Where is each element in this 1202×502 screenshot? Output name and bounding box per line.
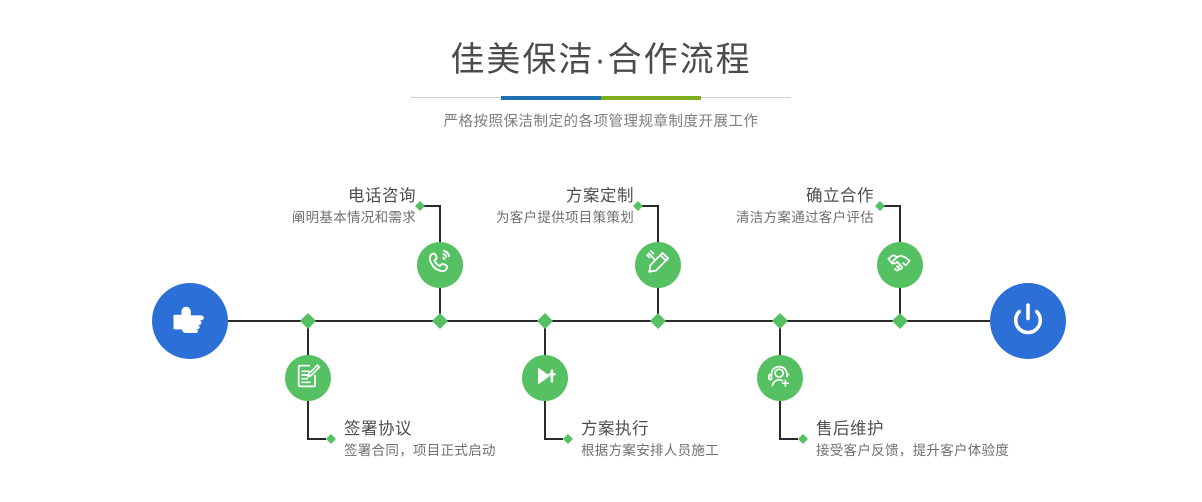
label-diamond-step-2 (326, 434, 336, 444)
pencil-ruler-icon (644, 249, 672, 282)
document-edit-icon (294, 362, 322, 395)
label-desc-step-2: 签署合同，项目正式启动 (344, 441, 496, 461)
diamond-marker-step-4 (537, 313, 553, 329)
label-diamond-step-3 (633, 201, 643, 211)
label-title-step-4: 方案执行 (581, 418, 719, 440)
node-icon-step-3[interactable] (635, 242, 681, 288)
diamond-marker-step-1 (432, 313, 448, 329)
label-step-3: 方案定制 为客户提供项目策策划 (496, 185, 634, 228)
label-title-step-3: 方案定制 (496, 185, 634, 207)
flowchart-page: 佳美保洁·合作流程 严格按照保洁制定的各项管理规章制度开展工作 (0, 0, 1202, 502)
label-title-step-2: 签署协议 (344, 418, 496, 440)
label-diamond-markers (326, 201, 885, 444)
play-execute-icon (531, 362, 559, 395)
label-desc-step-3: 为客户提供项目策策划 (496, 208, 634, 228)
node-icon-step-1[interactable] (417, 242, 463, 288)
label-title-step-1: 电话咨询 (292, 185, 416, 207)
phone-call-icon (426, 249, 454, 282)
label-desc-step-6: 接受客户反馈，提升客户体验度 (816, 441, 1009, 461)
label-desc-step-5: 清洁方案通过客户评估 (736, 208, 874, 228)
diamond-marker-step-3 (650, 313, 666, 329)
label-diamond-step-4 (563, 434, 573, 444)
node-icon-step-4[interactable] (522, 355, 568, 401)
power-icon (1006, 297, 1050, 346)
node-icon-step-6[interactable] (757, 355, 803, 401)
pointing-hand-icon (168, 297, 212, 346)
label-desc-step-4: 根据方案安排人员施工 (581, 441, 719, 461)
label-diamond-step-6 (798, 434, 808, 444)
diamond-marker-step-2 (300, 313, 316, 329)
label-step-4: 方案执行 根据方案安排人员施工 (581, 418, 719, 461)
label-step-1: 电话咨询 阐明基本情况和需求 (292, 185, 416, 228)
process-flow-diagram: 电话咨询 阐明基本情况和需求 方案定制 为客户提供项目策策划 (0, 0, 1202, 502)
diamond-marker-step-6 (772, 313, 788, 329)
label-diamond-step-1 (415, 201, 425, 211)
headset-support-icon (766, 362, 794, 395)
label-title-step-6: 售后维护 (816, 418, 1009, 440)
flow-start-endpoint[interactable] (152, 283, 228, 359)
label-step-6: 售后维护 接受客户反馈，提升客户体验度 (816, 418, 1009, 461)
label-diamond-step-5 (875, 201, 885, 211)
label-desc-step-1: 阐明基本情况和需求 (292, 208, 416, 228)
flow-end-endpoint[interactable] (990, 283, 1066, 359)
diamond-marker-step-5 (892, 313, 908, 329)
label-step-5: 确立合作 清洁方案通过客户评估 (736, 185, 874, 228)
node-icon-step-2[interactable] (285, 355, 331, 401)
node-icon-step-5[interactable] (877, 242, 923, 288)
label-title-step-5: 确立合作 (736, 185, 874, 207)
handshake-icon (886, 249, 914, 282)
label-step-2: 签署协议 签署合同，项目正式启动 (344, 418, 496, 461)
